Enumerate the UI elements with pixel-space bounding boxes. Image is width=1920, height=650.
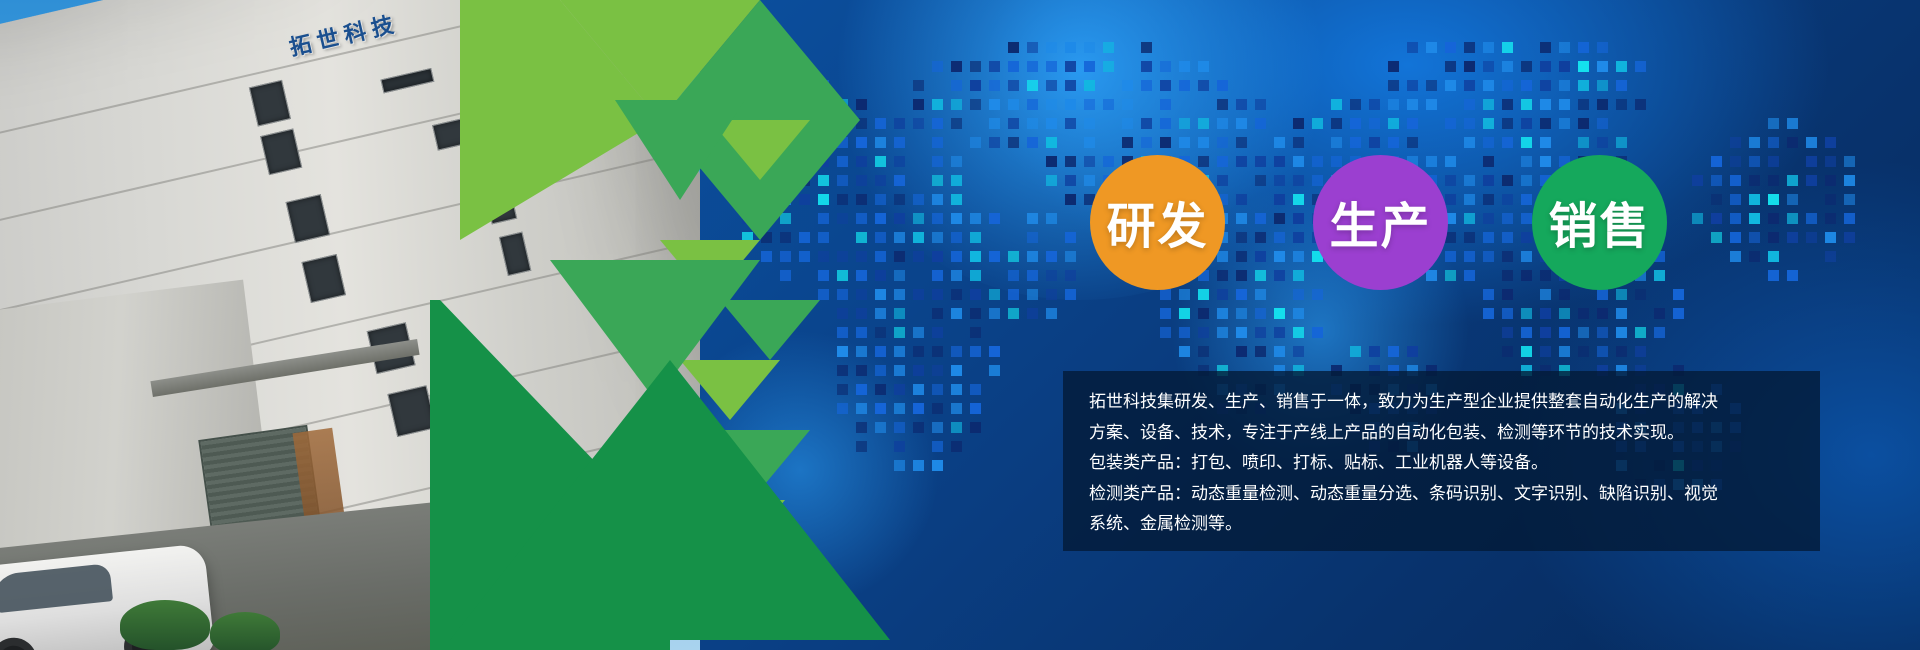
map-dot bbox=[1236, 213, 1247, 224]
map-dot bbox=[1806, 175, 1817, 186]
map-dot bbox=[1122, 80, 1133, 91]
map-dot bbox=[1179, 61, 1190, 72]
map-dot bbox=[1635, 61, 1646, 72]
map-dot bbox=[989, 99, 1000, 110]
map-dot bbox=[1274, 194, 1285, 205]
map-dot bbox=[1787, 175, 1798, 186]
map-dot bbox=[1255, 289, 1266, 300]
map-dot bbox=[1236, 251, 1247, 262]
map-dot bbox=[1673, 308, 1684, 319]
building-window bbox=[387, 385, 436, 437]
map-dot bbox=[1825, 232, 1836, 243]
map-dot bbox=[1255, 308, 1266, 319]
map-dot bbox=[1274, 308, 1285, 319]
map-dot bbox=[1464, 118, 1475, 129]
map-dot bbox=[1464, 251, 1475, 262]
map-dot bbox=[1502, 289, 1513, 300]
map-dot bbox=[1711, 213, 1722, 224]
map-dot bbox=[1673, 289, 1684, 300]
map-dot bbox=[1597, 118, 1608, 129]
map-dot bbox=[1787, 118, 1798, 129]
map-dot bbox=[1616, 99, 1627, 110]
map-dot bbox=[1369, 118, 1380, 129]
map-dot bbox=[1331, 137, 1342, 148]
map-dot bbox=[1331, 99, 1342, 110]
map-dot bbox=[1502, 232, 1513, 243]
green-triangle-graphic bbox=[430, 0, 990, 650]
map-dot bbox=[1483, 251, 1494, 262]
map-dot bbox=[1521, 346, 1532, 357]
map-dot bbox=[1749, 232, 1760, 243]
map-dot bbox=[1141, 61, 1152, 72]
map-dot bbox=[1008, 289, 1019, 300]
map-dot bbox=[1084, 42, 1095, 53]
map-dot bbox=[1597, 137, 1608, 148]
map-dot bbox=[1350, 137, 1361, 148]
map-dot bbox=[1388, 346, 1399, 357]
map-dot bbox=[1464, 137, 1475, 148]
map-dot bbox=[1768, 194, 1779, 205]
map-dot bbox=[1787, 137, 1798, 148]
map-dot bbox=[1046, 270, 1057, 281]
map-dot bbox=[1236, 289, 1247, 300]
map-dot bbox=[1768, 213, 1779, 224]
map-dot bbox=[1483, 137, 1494, 148]
map-dot bbox=[1483, 42, 1494, 53]
map-dot bbox=[1274, 232, 1285, 243]
map-dot bbox=[1711, 232, 1722, 243]
map-dot bbox=[1141, 80, 1152, 91]
map-dot bbox=[1046, 251, 1057, 262]
map-dot bbox=[1407, 118, 1418, 129]
map-dot bbox=[1711, 175, 1722, 186]
map-dot bbox=[1692, 213, 1703, 224]
map-dot bbox=[1521, 99, 1532, 110]
map-dot bbox=[1483, 232, 1494, 243]
map-dot bbox=[989, 137, 1000, 148]
map-dot bbox=[1540, 270, 1551, 281]
map-dot bbox=[1825, 137, 1836, 148]
map-dot bbox=[1198, 346, 1209, 357]
map-dot bbox=[1388, 61, 1399, 72]
map-dot bbox=[989, 308, 1000, 319]
map-dot bbox=[1521, 118, 1532, 129]
map-dot bbox=[1331, 156, 1342, 167]
map-dot bbox=[1768, 175, 1779, 186]
map-dot bbox=[1483, 61, 1494, 72]
map-dot bbox=[1749, 213, 1760, 224]
map-dot bbox=[1730, 137, 1741, 148]
map-dot bbox=[1369, 99, 1380, 110]
map-dot bbox=[1027, 42, 1038, 53]
map-dot bbox=[1274, 175, 1285, 186]
description-line: 包装类产品：打包、喷印、打标、贴标、工业机器人等设备。 bbox=[1089, 450, 1794, 478]
map-dot bbox=[1559, 42, 1570, 53]
car-wheel bbox=[0, 635, 39, 650]
map-dot bbox=[1236, 346, 1247, 357]
map-dot bbox=[1616, 137, 1627, 148]
map-dot bbox=[1388, 137, 1399, 148]
map-dot bbox=[1445, 251, 1456, 262]
map-dot bbox=[1578, 118, 1589, 129]
map-dot bbox=[1027, 80, 1038, 91]
map-dot bbox=[1502, 213, 1513, 224]
map-dot bbox=[1293, 118, 1304, 129]
map-dot bbox=[1483, 194, 1494, 205]
map-dot bbox=[1825, 251, 1836, 262]
map-dot bbox=[1578, 42, 1589, 53]
map-dot bbox=[1217, 327, 1228, 338]
map-dot bbox=[1521, 175, 1532, 186]
map-dot bbox=[1293, 346, 1304, 357]
map-dot bbox=[1749, 156, 1760, 167]
map-dot bbox=[1084, 156, 1095, 167]
map-dot bbox=[1293, 232, 1304, 243]
map-dot bbox=[1464, 99, 1475, 110]
map-dot bbox=[1027, 213, 1038, 224]
building-window bbox=[286, 194, 331, 243]
map-dot bbox=[1445, 42, 1456, 53]
map-dot bbox=[1217, 137, 1228, 148]
map-dot bbox=[1597, 61, 1608, 72]
map-dot bbox=[1255, 251, 1266, 262]
map-dot bbox=[1540, 61, 1551, 72]
map-dot bbox=[1179, 327, 1190, 338]
map-dot bbox=[1008, 270, 1019, 281]
map-dot bbox=[1027, 99, 1038, 110]
map-dot bbox=[1635, 346, 1646, 357]
map-dot bbox=[1521, 213, 1532, 224]
map-dot bbox=[1540, 99, 1551, 110]
map-dot bbox=[1711, 156, 1722, 167]
map-dot bbox=[1483, 156, 1494, 167]
map-dot bbox=[1084, 137, 1095, 148]
map-dot bbox=[1312, 118, 1323, 129]
badge-rd[interactable]: 研发 bbox=[1090, 155, 1225, 290]
map-dot bbox=[1293, 194, 1304, 205]
map-dot bbox=[1255, 175, 1266, 186]
map-dot bbox=[1502, 327, 1513, 338]
map-dot bbox=[1065, 80, 1076, 91]
triangle-shape bbox=[615, 100, 745, 200]
map-dot bbox=[1559, 346, 1570, 357]
map-dot bbox=[1426, 80, 1437, 91]
map-dot bbox=[1730, 156, 1741, 167]
map-dot bbox=[1502, 42, 1513, 53]
map-dot bbox=[1103, 61, 1114, 72]
map-dot bbox=[1065, 270, 1076, 281]
map-dot bbox=[1426, 99, 1437, 110]
map-dot bbox=[1046, 61, 1057, 72]
map-dot bbox=[1806, 137, 1817, 148]
map-dot bbox=[1502, 308, 1513, 319]
map-dot bbox=[1027, 61, 1038, 72]
map-dot bbox=[1198, 327, 1209, 338]
badge-label: 生产 bbox=[1329, 187, 1431, 258]
map-dot bbox=[1160, 327, 1171, 338]
map-dot bbox=[989, 118, 1000, 129]
map-dot bbox=[1160, 80, 1171, 91]
map-dot bbox=[1008, 99, 1019, 110]
map-dot bbox=[1502, 80, 1513, 91]
map-dot bbox=[1046, 156, 1057, 167]
map-dot bbox=[1198, 137, 1209, 148]
map-dot bbox=[1179, 137, 1190, 148]
map-dot bbox=[1293, 137, 1304, 148]
badge-sales[interactable]: 销售 bbox=[1532, 155, 1667, 290]
map-dot bbox=[1027, 251, 1038, 262]
map-dot bbox=[1065, 194, 1076, 205]
company-description-panel: 拓世科技集研发、生产、销售于一体，致力为生产型企业提供整套自动化生产的解决 方案… bbox=[1063, 371, 1820, 551]
map-dot bbox=[1445, 156, 1456, 167]
map-dot bbox=[1350, 99, 1361, 110]
map-dot bbox=[1540, 327, 1551, 338]
map-dot bbox=[1521, 156, 1532, 167]
map-dot bbox=[1825, 213, 1836, 224]
map-dot bbox=[1597, 308, 1608, 319]
map-dot bbox=[1521, 80, 1532, 91]
map-dot bbox=[1445, 270, 1456, 281]
map-dot bbox=[1502, 251, 1513, 262]
map-dot bbox=[1597, 327, 1608, 338]
map-dot bbox=[1293, 327, 1304, 338]
map-dot bbox=[1179, 289, 1190, 300]
map-dot bbox=[1255, 346, 1266, 357]
map-dot bbox=[1065, 42, 1076, 53]
map-dot bbox=[1825, 194, 1836, 205]
map-dot bbox=[1787, 194, 1798, 205]
map-dot bbox=[1274, 346, 1285, 357]
map-dot bbox=[1407, 99, 1418, 110]
map-dot bbox=[1046, 175, 1057, 186]
map-dot bbox=[1027, 232, 1038, 243]
map-dot bbox=[1293, 156, 1304, 167]
map-dot bbox=[1179, 346, 1190, 357]
description-line: 检测类产品：动态重量检测、动态重量分选、条码识别、文字识别、缺陷识别、视觉 bbox=[1089, 481, 1794, 509]
map-dot bbox=[1369, 346, 1380, 357]
map-dot bbox=[1844, 213, 1855, 224]
map-dot bbox=[1407, 346, 1418, 357]
map-dot bbox=[1274, 156, 1285, 167]
map-dot bbox=[1768, 118, 1779, 129]
map-dot bbox=[1483, 99, 1494, 110]
map-dot bbox=[1236, 137, 1247, 148]
map-dot bbox=[1502, 270, 1513, 281]
map-dot bbox=[1806, 156, 1817, 167]
map-dot bbox=[1084, 80, 1095, 91]
car-window bbox=[0, 563, 113, 613]
map-dot bbox=[1521, 61, 1532, 72]
map-dot bbox=[1578, 308, 1589, 319]
map-dot bbox=[1027, 270, 1038, 281]
shrub bbox=[120, 600, 210, 650]
map-dot bbox=[1844, 232, 1855, 243]
building-window bbox=[260, 129, 302, 176]
map-dot bbox=[1160, 99, 1171, 110]
badge-production[interactable]: 生产 bbox=[1313, 155, 1448, 290]
map-dot bbox=[1559, 327, 1570, 338]
map-dot bbox=[1312, 327, 1323, 338]
map-dot bbox=[1464, 175, 1475, 186]
map-dot bbox=[1502, 346, 1513, 357]
map-dot bbox=[1445, 194, 1456, 205]
map-dot bbox=[1217, 156, 1228, 167]
map-dot bbox=[1179, 308, 1190, 319]
map-dot bbox=[1255, 232, 1266, 243]
map-dot bbox=[1616, 289, 1627, 300]
map-dot bbox=[1464, 232, 1475, 243]
map-dot bbox=[1141, 118, 1152, 129]
map-dot bbox=[1768, 232, 1779, 243]
map-dot bbox=[1578, 327, 1589, 338]
map-dot bbox=[1559, 80, 1570, 91]
map-dot bbox=[1350, 346, 1361, 357]
map-dot bbox=[1236, 308, 1247, 319]
map-dot bbox=[1616, 308, 1627, 319]
map-dot bbox=[1749, 251, 1760, 262]
map-dot bbox=[1483, 118, 1494, 129]
map-dot bbox=[1635, 327, 1646, 338]
map-dot bbox=[1730, 194, 1741, 205]
map-dot bbox=[1616, 61, 1627, 72]
map-dot bbox=[1217, 270, 1228, 281]
map-dot bbox=[1217, 308, 1228, 319]
map-dot bbox=[1844, 156, 1855, 167]
map-dot bbox=[1008, 251, 1019, 262]
map-dot bbox=[1559, 289, 1570, 300]
description-line: 系统、金属检测等。 bbox=[1089, 511, 1794, 539]
map-dot bbox=[1597, 99, 1608, 110]
map-dot bbox=[1331, 118, 1342, 129]
description-line: 方案、设备、技术，专注于产线上产品的自动化包装、检测等环节的技术实现。 bbox=[1089, 420, 1794, 448]
map-dot bbox=[1559, 308, 1570, 319]
map-dot bbox=[1160, 289, 1171, 300]
map-dot bbox=[1483, 289, 1494, 300]
map-dot bbox=[1046, 289, 1057, 300]
map-dot bbox=[1236, 232, 1247, 243]
map-dot bbox=[1008, 61, 1019, 72]
badge-label: 研发 bbox=[1106, 187, 1208, 258]
map-dot bbox=[1540, 118, 1551, 129]
map-dot bbox=[1540, 80, 1551, 91]
map-dot bbox=[1274, 137, 1285, 148]
map-dot bbox=[1730, 213, 1741, 224]
map-dot bbox=[1407, 80, 1418, 91]
map-dot bbox=[1046, 213, 1057, 224]
map-dot bbox=[1217, 175, 1228, 186]
map-dot bbox=[1312, 156, 1323, 167]
map-dot bbox=[989, 365, 1000, 376]
map-dot bbox=[1426, 42, 1437, 53]
map-dot bbox=[1502, 175, 1513, 186]
map-dot bbox=[1616, 327, 1627, 338]
map-dot bbox=[1065, 175, 1076, 186]
map-dot bbox=[1483, 175, 1494, 186]
map-dot bbox=[1236, 194, 1247, 205]
map-dot bbox=[1825, 156, 1836, 167]
map-dot bbox=[1749, 137, 1760, 148]
map-dot bbox=[1445, 175, 1456, 186]
map-dot bbox=[1616, 346, 1627, 357]
map-dot bbox=[1521, 270, 1532, 281]
map-dot bbox=[1046, 118, 1057, 129]
map-dot bbox=[1179, 118, 1190, 129]
map-dot bbox=[1198, 156, 1209, 167]
map-dot bbox=[1806, 213, 1817, 224]
map-dot bbox=[1597, 42, 1608, 53]
map-dot bbox=[1274, 270, 1285, 281]
map-dot bbox=[1084, 118, 1095, 129]
map-dot bbox=[1198, 118, 1209, 129]
map-dot bbox=[1787, 232, 1798, 243]
map-dot bbox=[1388, 118, 1399, 129]
map-dot bbox=[1445, 80, 1456, 91]
map-dot bbox=[1027, 289, 1038, 300]
map-dot bbox=[1540, 289, 1551, 300]
map-dot bbox=[1046, 308, 1057, 319]
map-dot bbox=[989, 80, 1000, 91]
map-dot bbox=[1065, 118, 1076, 129]
map-dot bbox=[1236, 327, 1247, 338]
map-dot bbox=[1274, 327, 1285, 338]
map-dot bbox=[1768, 137, 1779, 148]
map-dot bbox=[1483, 308, 1494, 319]
map-dot bbox=[1293, 213, 1304, 224]
map-dot bbox=[1597, 346, 1608, 357]
map-dot bbox=[1255, 99, 1266, 110]
map-dot bbox=[1407, 137, 1418, 148]
map-dot bbox=[1844, 194, 1855, 205]
map-dot bbox=[1065, 61, 1076, 72]
map-dot bbox=[1065, 156, 1076, 167]
map-dot bbox=[1046, 99, 1057, 110]
map-dot bbox=[1559, 118, 1570, 129]
map-dot bbox=[1046, 42, 1057, 53]
map-dot bbox=[1445, 118, 1456, 129]
map-dot bbox=[1217, 99, 1228, 110]
map-dot bbox=[1559, 99, 1570, 110]
map-dot bbox=[1787, 213, 1798, 224]
map-dot bbox=[1578, 61, 1589, 72]
map-dot bbox=[1388, 80, 1399, 91]
map-dot bbox=[1141, 42, 1152, 53]
map-dot bbox=[1540, 346, 1551, 357]
map-dot bbox=[1008, 80, 1019, 91]
map-dot bbox=[1502, 137, 1513, 148]
map-dot bbox=[1540, 137, 1551, 148]
map-dot bbox=[1293, 308, 1304, 319]
map-dot bbox=[1217, 289, 1228, 300]
map-dot bbox=[1217, 251, 1228, 262]
map-dot bbox=[1198, 80, 1209, 91]
map-dot bbox=[1540, 156, 1551, 167]
map-dot bbox=[1768, 156, 1779, 167]
map-dot bbox=[1217, 80, 1228, 91]
map-dot bbox=[1426, 156, 1437, 167]
map-dot bbox=[1578, 99, 1589, 110]
map-dot bbox=[1350, 118, 1361, 129]
map-dot bbox=[1179, 80, 1190, 91]
map-dot bbox=[1768, 270, 1779, 281]
map-dot bbox=[1521, 232, 1532, 243]
building-window bbox=[249, 80, 291, 127]
shrub bbox=[210, 612, 280, 650]
map-dot bbox=[1141, 137, 1152, 148]
map-dot bbox=[1008, 308, 1019, 319]
map-dot bbox=[1464, 80, 1475, 91]
map-dot bbox=[1293, 175, 1304, 186]
map-dot bbox=[1844, 175, 1855, 186]
